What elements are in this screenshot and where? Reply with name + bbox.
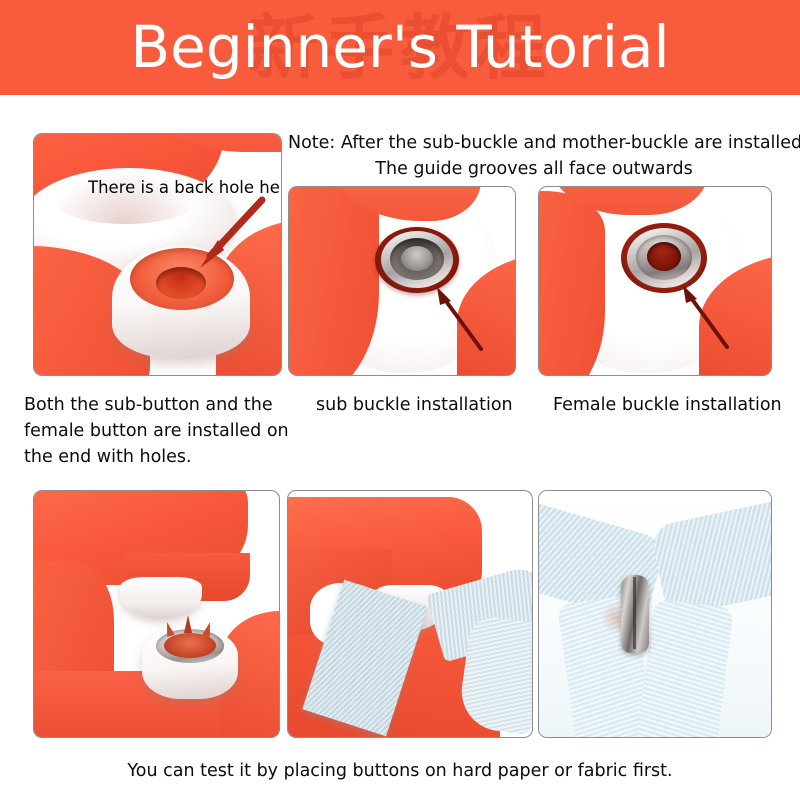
fabric-strap-right-down bbox=[636, 599, 734, 737]
metal-snap-seam bbox=[633, 577, 636, 649]
stud-prong-center bbox=[184, 615, 192, 633]
caption-panel-3: Female buckle installation bbox=[553, 392, 793, 418]
photo-joined-straps bbox=[539, 491, 771, 737]
caption-panel-2: sub buckle installation bbox=[316, 392, 546, 418]
photo-female-buckle bbox=[539, 187, 771, 375]
tool-left-body bbox=[539, 191, 605, 375]
tool-left-body bbox=[289, 187, 379, 375]
panel-sub-buckle bbox=[288, 186, 516, 376]
buckle-core bbox=[401, 246, 433, 271]
page-title: Beginner's Tutorial bbox=[0, 0, 800, 95]
panel-back-hole: There is a back hole here bbox=[33, 133, 282, 376]
pointer-arrow-icon bbox=[427, 283, 497, 357]
buckle-core bbox=[647, 242, 681, 271]
photo-strap-in-jaw bbox=[288, 491, 532, 737]
panel-female-buckle bbox=[538, 186, 772, 376]
panel-stud-in-jaws bbox=[33, 490, 280, 738]
note-line-2: The guide grooves all face outwards bbox=[288, 156, 800, 182]
caption-panel-1: Both the sub-button and the female butto… bbox=[24, 392, 300, 470]
stud-bowl bbox=[164, 633, 216, 658]
header-banner: 新手教程 Beginner's Tutorial bbox=[0, 0, 800, 95]
photo-back-hole: There is a back hole here bbox=[34, 134, 281, 375]
note-line-1: Note: After the sub-buckle and mother-bu… bbox=[288, 130, 800, 156]
caption-bottom: You can test it by placing buttons on ha… bbox=[0, 758, 800, 784]
note-text: Note: After the sub-buckle and mother-bu… bbox=[288, 130, 800, 182]
annotation-arrow-icon bbox=[184, 194, 274, 284]
panel-joined-straps bbox=[538, 490, 772, 738]
white-upper-die bbox=[120, 577, 202, 619]
pointer-arrow-icon bbox=[673, 281, 743, 355]
panel-strap-in-jaw bbox=[287, 490, 533, 738]
photo-sub-buckle bbox=[289, 187, 515, 375]
tutorial-infographic: 新手教程 Beginner's Tutorial Note: After the… bbox=[0, 0, 800, 800]
back-hole-annotation-label: There is a back hole here bbox=[88, 178, 281, 197]
photo-stud-in-jaws bbox=[34, 491, 279, 737]
